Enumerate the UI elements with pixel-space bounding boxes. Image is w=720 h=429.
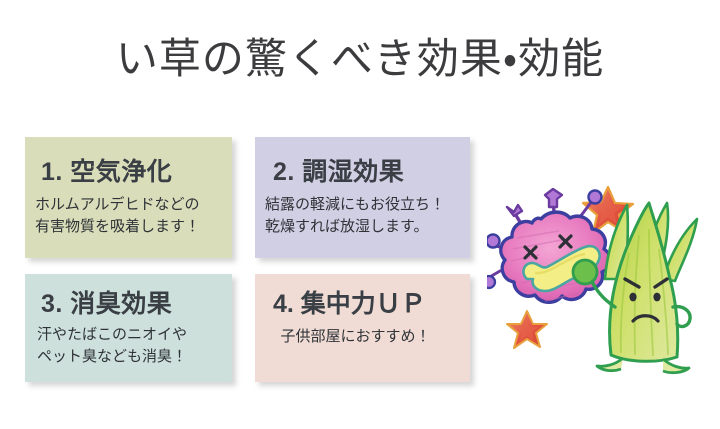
benefit-card-humidity-control: 2. 調湿効果 結露の軽減にもお役立ち！ 乾燥すれば放湿します。: [255, 137, 470, 258]
igusa-fist-icon: [573, 260, 597, 284]
impact-star-lower-icon: [507, 311, 547, 348]
benefit-card-air-purification: 1. 空気浄化 ホルムアルデヒドなどの 有害物質を吸着します！: [25, 137, 232, 258]
illustration-svg: [487, 183, 702, 383]
benefit-card-3-body-line-2: ペット臭なども消臭！: [37, 346, 232, 368]
benefit-card-deodorizing: 3. 消臭効果 汗やたばこのニオイや ペット臭なども消臭！: [25, 274, 232, 382]
benefit-card-2-body: 結露の軽減にもお役立ち！ 乾燥すれば放湿します。: [265, 194, 470, 238]
benefit-card-concentration-up: 4. 集中力ＵＰ 子供部屋におすすめ！: [255, 274, 470, 382]
benefit-card-2-body-line-2: 乾燥すれば放湿します。: [265, 216, 470, 238]
benefit-card-1-body: ホルムアルデヒドなどの 有害物質を吸着します！: [35, 194, 232, 238]
igusa-eye-right-icon: [653, 293, 660, 302]
benefit-card-4-heading: 4. 集中力ＵＰ: [273, 284, 470, 320]
benefit-card-1-heading: 1. 空気浄化: [41, 152, 232, 188]
benefit-card-1-body-line-1: ホルムアルデヒドなどの: [35, 194, 232, 216]
benefit-card-4-body: 子供部屋におすすめ！: [255, 326, 470, 348]
benefit-card-3-body-line-1: 汗やたばこのニオイや: [37, 324, 232, 346]
benefit-card-2-heading: 2. 調湿効果: [273, 152, 470, 188]
infographic-page: い草の驚くべき効果・効能 1. 空気浄化 ホルムアルデヒドなどの 有害物質を吸着…: [0, 0, 720, 429]
page-title: い草の驚くべき効果・効能: [0, 34, 720, 86]
igusa-eye-left-icon: [629, 293, 636, 302]
benefit-card-3-heading: 3. 消臭効果: [41, 284, 232, 320]
benefit-card-1-body-line-2: 有害物質を吸着します！: [35, 216, 232, 238]
benefit-card-4-body-line-1: 子供部屋におすすめ！: [255, 326, 456, 348]
benefit-card-3-body: 汗やたばこのニオイや ペット臭なども消臭！: [37, 324, 232, 368]
illustration-germ-vs-igusa: [487, 183, 702, 383]
benefit-card-2-body-line-1: 結露の軽減にもお役立ち！: [265, 194, 470, 216]
